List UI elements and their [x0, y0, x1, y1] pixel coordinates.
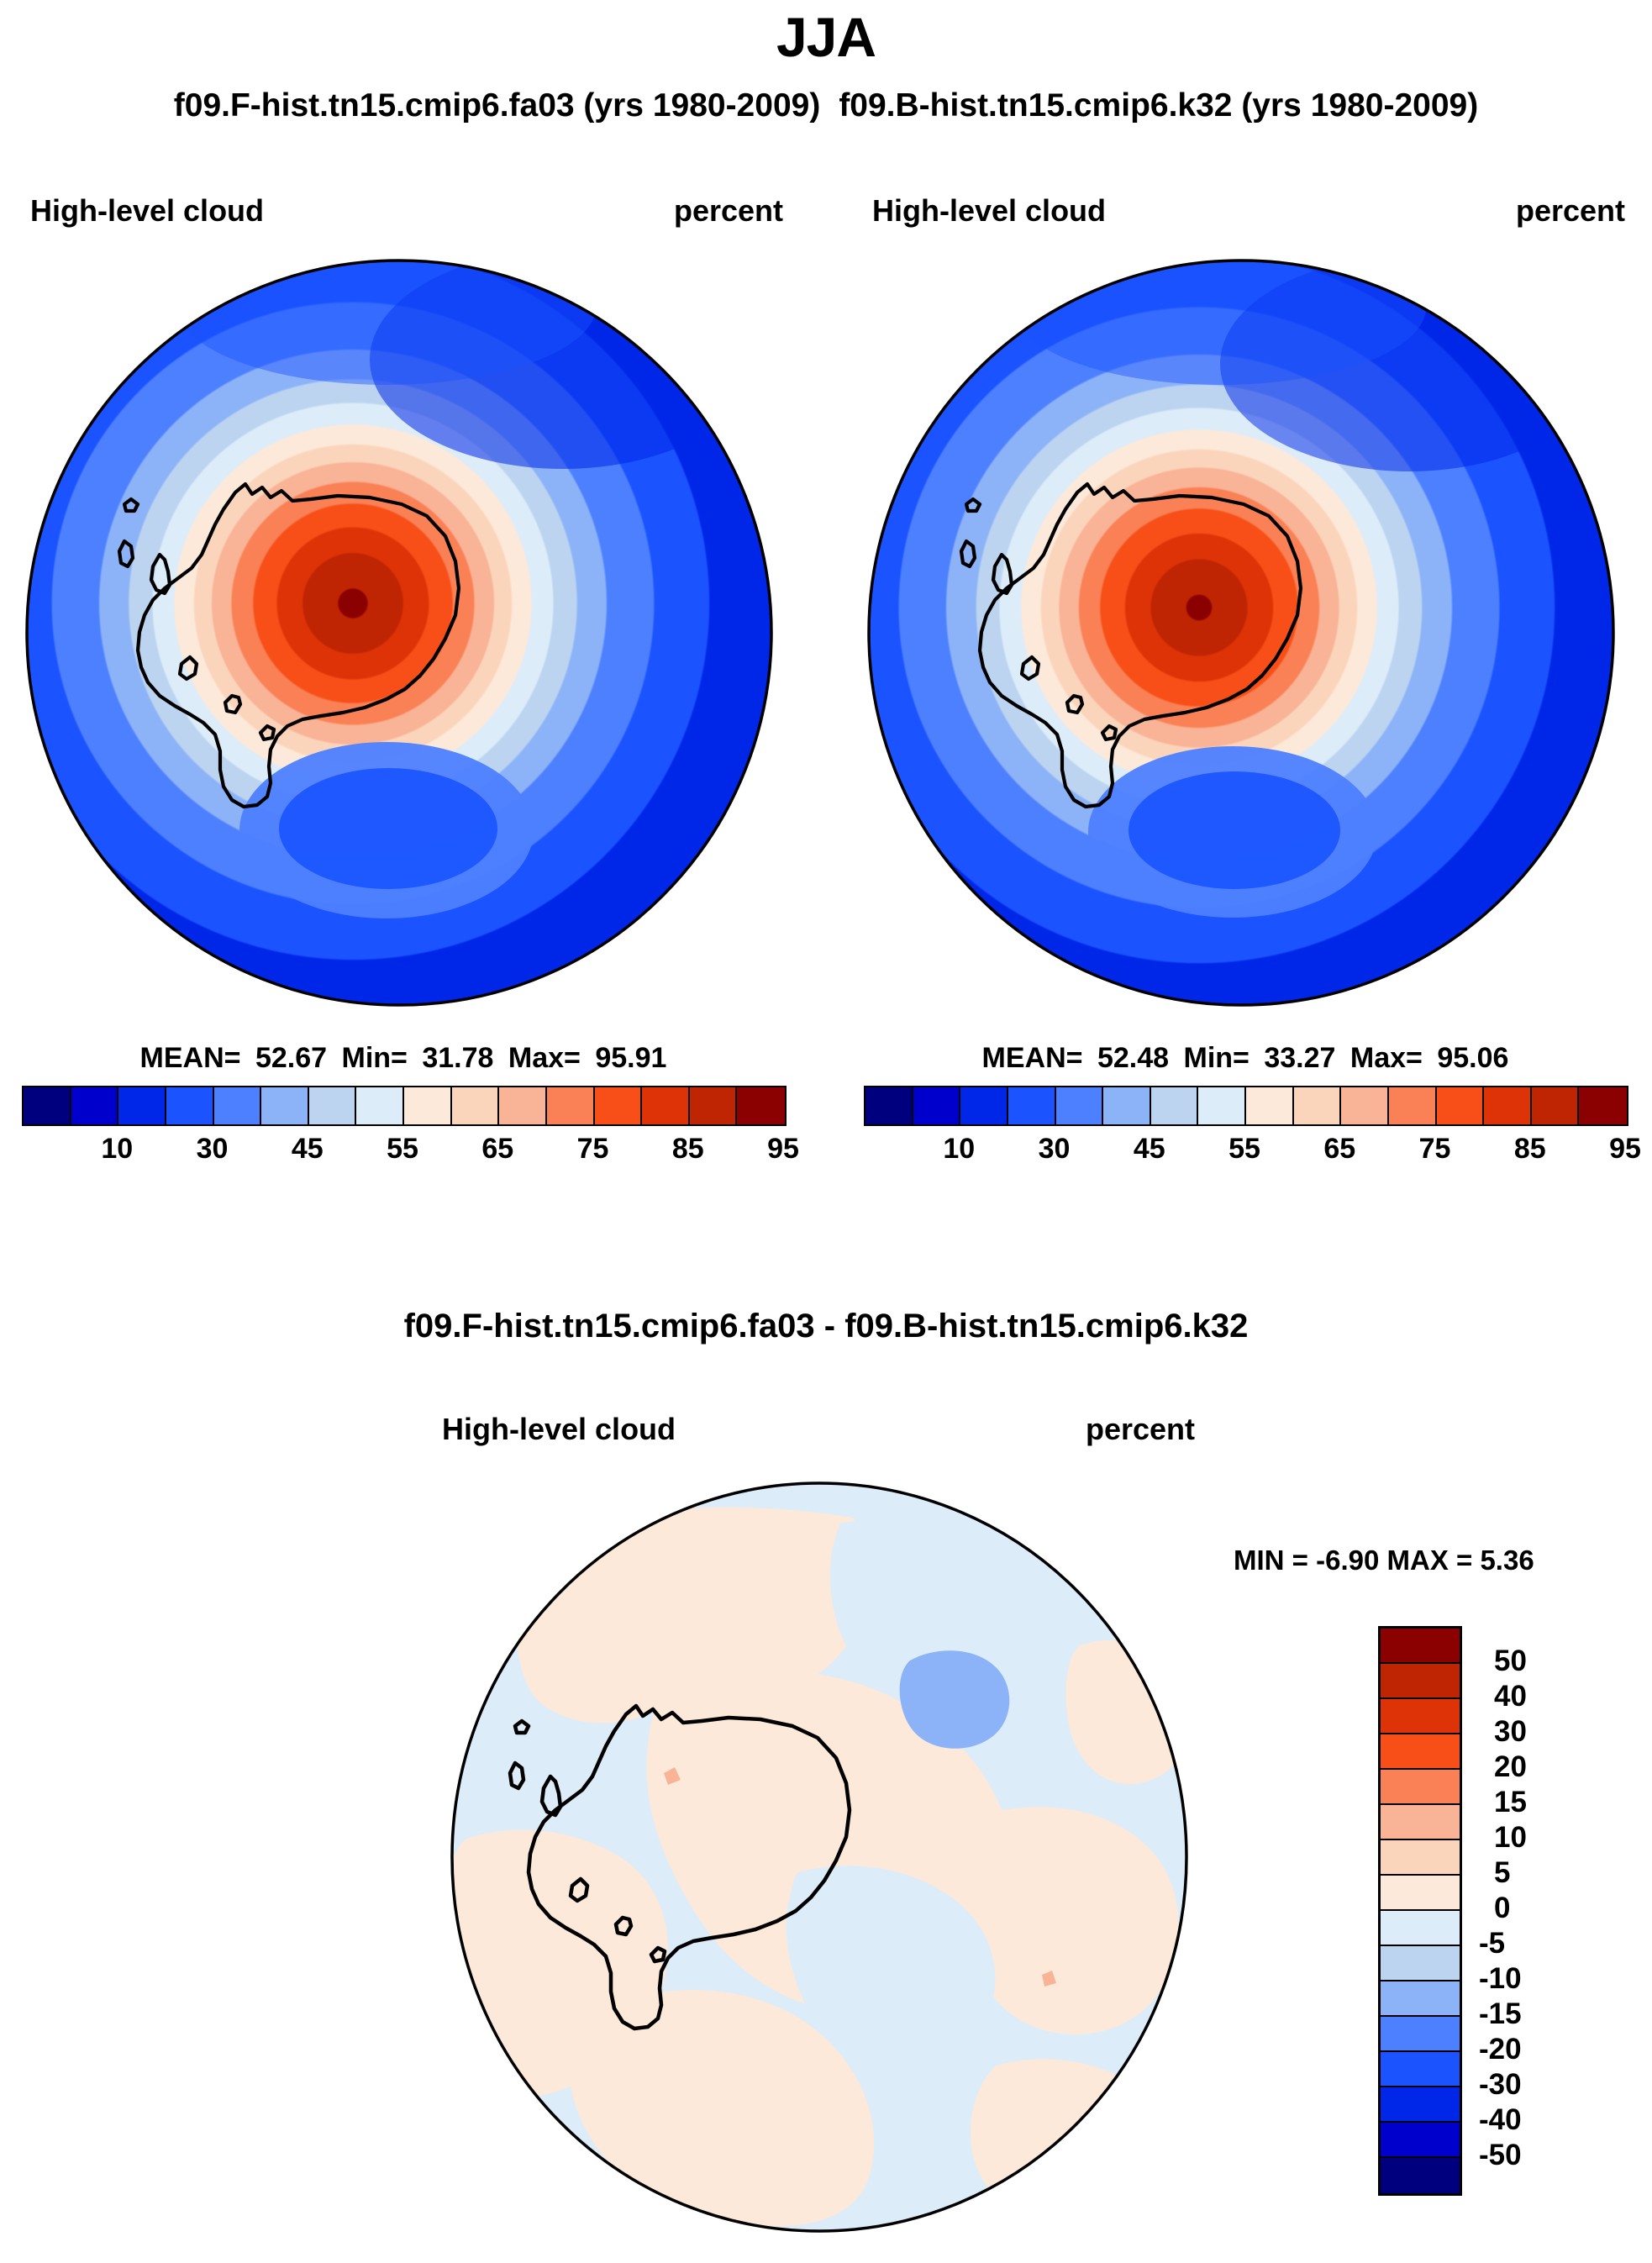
- colorbar-segment-7: [1198, 1087, 1246, 1124]
- panel-left-variable-label: High-level cloud: [8, 193, 264, 229]
- colorbar-tick-65: 65: [1323, 1133, 1355, 1166]
- colorbar-segment-6: [1151, 1087, 1199, 1124]
- colorbar-tick-45: 45: [1134, 1133, 1165, 1166]
- diff-colorbar-segment-2: [1381, 1699, 1460, 1734]
- diff-colorbar-tick-neg30: -30: [1479, 2068, 1522, 2102]
- panel-difference-variable-label: High-level cloud: [420, 1412, 676, 1447]
- diff-colorbar-tick-15: 15: [1494, 1786, 1527, 1819]
- colorbar-segment-0: [24, 1087, 71, 1124]
- colorbar-segment-2: [118, 1087, 166, 1124]
- panel-left-field: [25, 259, 773, 1007]
- colorbar-segment-4: [1056, 1087, 1104, 1124]
- colorbar-segment-10: [1341, 1087, 1389, 1124]
- difference-colorbar: [1378, 1626, 1462, 2196]
- colorbar-tick-65: 65: [481, 1133, 513, 1166]
- colorbar-tick-45: 45: [292, 1133, 324, 1166]
- colorbar-segment-15: [737, 1087, 785, 1124]
- model-name-row: f09.F-hist.tn15.cmip6.fa03 (yrs 1980-200…: [0, 87, 1652, 124]
- diff-colorbar-tick-50: 50: [1494, 1645, 1527, 1678]
- colorbar-segment-6: [309, 1087, 357, 1124]
- panel-right-mean-value: 52.48: [1097, 1042, 1169, 1074]
- difference-colorbar-labels: 50403020151050-5-10-15-20-30-40-50: [1479, 1626, 1639, 2191]
- diff-colorbar-segment-8: [1381, 1911, 1460, 1946]
- panel-left-mean-value: 52.67: [255, 1042, 327, 1074]
- panel-right-globe-svg: [867, 259, 1615, 1007]
- colorbar-segment-9: [1294, 1087, 1342, 1124]
- diff-colorbar-segment-1: [1381, 1664, 1460, 1699]
- model-name-right: f09.B-hist.tn15.cmip6.k32 (yrs 1980-2009…: [839, 87, 1478, 124]
- diff-colorbar-tick-40: 40: [1494, 1680, 1527, 1713]
- colorbar-segment-8: [1246, 1087, 1294, 1124]
- panel-left-colorbar: [22, 1086, 787, 1126]
- colorbar-tick-30: 30: [1039, 1133, 1071, 1166]
- panel-right-header: High-level cloud percent: [850, 193, 1640, 229]
- colorbar-segment-5: [1103, 1087, 1151, 1124]
- panel-right-colorbar: [864, 1086, 1628, 1126]
- diff-colorbar-tick-neg40: -40: [1479, 2103, 1522, 2137]
- panel-left-min-label: Min=: [342, 1042, 408, 1074]
- colorbar-tick-85: 85: [672, 1133, 704, 1166]
- diff-colorbar-segment-14: [1381, 2123, 1460, 2158]
- diff-colorbar-segment-12: [1381, 2052, 1460, 2087]
- panel-difference-header: High-level cloud percent: [420, 1412, 1210, 1447]
- panel-left-min-value: 31.78: [422, 1042, 493, 1074]
- diff-colorbar-segment-3: [1381, 1734, 1460, 1770]
- panel-left-units-label: percent: [674, 193, 798, 229]
- colorbar-tick-10: 10: [943, 1133, 975, 1166]
- colorbar-segment-14: [690, 1087, 738, 1124]
- colorbar-segment-9: [452, 1087, 500, 1124]
- colorbar-segment-7: [356, 1087, 404, 1124]
- colorbar-tick-95: 95: [1609, 1133, 1641, 1166]
- difference-min-label: MIN =: [1234, 1545, 1308, 1576]
- colorbar-tick-95: 95: [767, 1133, 799, 1166]
- colorbar-segment-5: [261, 1087, 309, 1124]
- diff-colorbar-segment-5: [1381, 1805, 1460, 1840]
- model-name-left: f09.F-hist.tn15.cmip6.fa03 (yrs 1980-200…: [174, 87, 821, 124]
- figure-title: JJA: [0, 5, 1652, 69]
- colorbar-segment-0: [865, 1087, 913, 1124]
- panel-difference-map: [416, 1477, 1223, 2234]
- panel-difference-field: [416, 1477, 1223, 2234]
- colorbar-segment-8: [404, 1087, 452, 1124]
- colorbar-segment-4: [214, 1087, 262, 1124]
- diff-colorbar-segment-10: [1381, 1981, 1460, 2017]
- diff-colorbar-tick-neg15: -15: [1479, 1997, 1522, 2031]
- colorbar-segment-13: [1484, 1087, 1532, 1124]
- panel-left-globe-svg: [25, 259, 773, 1007]
- colorbar-segment-14: [1532, 1087, 1580, 1124]
- colorbar-segment-1: [913, 1087, 961, 1124]
- panel-right-max-value: 95.06: [1437, 1042, 1508, 1074]
- diff-colorbar-tick-neg5: -5: [1479, 1927, 1505, 1960]
- diff-colorbar-tick-neg20: -20: [1479, 2033, 1522, 2066]
- figure-page: JJA f09.F-hist.tn15.cmip6.fa03 (yrs 1980…: [0, 0, 1652, 2263]
- colorbar-segment-12: [595, 1087, 643, 1124]
- colorbar-segment-10: [499, 1087, 547, 1124]
- colorbar-segment-15: [1579, 1087, 1627, 1124]
- diff-colorbar-tick-neg50: -50: [1479, 2139, 1522, 2172]
- panel-right-min-value: 33.27: [1264, 1042, 1335, 1074]
- panel-difference-globe-svg: [416, 1477, 1223, 2234]
- difference-max-label: MAX =: [1387, 1545, 1473, 1576]
- diff-colorbar-tick-5: 5: [1494, 1856, 1510, 1890]
- panel-left-stats: MEAN= 52.67 Min= 31.78 Max= 95.91: [8, 1042, 798, 1075]
- diff-colorbar-tick-20: 20: [1494, 1750, 1527, 1784]
- panel-right-min-label: Min=: [1184, 1042, 1250, 1074]
- colorbar-segment-13: [642, 1087, 690, 1124]
- colorbar-tick-55: 55: [1228, 1133, 1260, 1166]
- panel-right: High-level cloud percent: [850, 193, 1640, 1168]
- colorbar-segment-1: [71, 1087, 119, 1124]
- diff-colorbar-tick-10: 10: [1494, 1821, 1527, 1855]
- diff-colorbar-tick-30: 30: [1494, 1715, 1527, 1749]
- colorbar-segment-11: [1389, 1087, 1437, 1124]
- panel-left-colorbar-labels: 1030455565758595: [22, 1133, 783, 1170]
- colorbar-segment-12: [1437, 1087, 1485, 1124]
- panel-right-colorbar-labels: 1030455565758595: [864, 1133, 1625, 1170]
- colorbar-tick-10: 10: [101, 1133, 133, 1166]
- diff-colorbar-segment-11: [1381, 2017, 1460, 2052]
- panel-right-variable-label: High-level cloud: [850, 193, 1106, 229]
- diff-colorbar-tick-neg10: -10: [1479, 1962, 1522, 1996]
- panel-right-units-label: percent: [1516, 193, 1640, 229]
- colorbar-tick-75: 75: [577, 1133, 609, 1166]
- colorbar-segment-2: [960, 1087, 1008, 1124]
- diff-colorbar-segment-6: [1381, 1840, 1460, 1876]
- difference-max-value: 5.36: [1480, 1545, 1534, 1576]
- colorbar-tick-85: 85: [1514, 1133, 1546, 1166]
- difference-title: f09.F-hist.tn15.cmip6.fa03 - f09.B-hist.…: [0, 1308, 1652, 1345]
- panel-difference-units-label: percent: [1086, 1412, 1210, 1447]
- colorbar-segment-3: [166, 1087, 214, 1124]
- diff-colorbar-segment-4: [1381, 1770, 1460, 1805]
- difference-min-value: -6.90: [1316, 1545, 1379, 1576]
- panel-left-mean-label: MEAN=: [140, 1042, 241, 1074]
- colorbar-segment-3: [1008, 1087, 1056, 1124]
- panel-left-max-value: 95.91: [595, 1042, 666, 1074]
- diff-colorbar-segment-9: [1381, 1946, 1460, 1981]
- panel-right-map: [867, 259, 1615, 1007]
- panel-right-stats: MEAN= 52.48 Min= 33.27 Max= 95.06: [850, 1042, 1640, 1075]
- panel-left-header: High-level cloud percent: [8, 193, 798, 229]
- panel-right-max-label: Max=: [1350, 1042, 1423, 1074]
- colorbar-segment-11: [547, 1087, 595, 1124]
- diff-colorbar-tick-0: 0: [1494, 1892, 1510, 1925]
- diff-colorbar-segment-0: [1381, 1629, 1460, 1664]
- diff-colorbar-segment-15: [1381, 2158, 1460, 2193]
- colorbar-tick-75: 75: [1419, 1133, 1451, 1166]
- diff-colorbar-segment-7: [1381, 1876, 1460, 1911]
- panel-right-mean-label: MEAN=: [982, 1042, 1083, 1074]
- panel-left-map: [25, 259, 773, 1007]
- panel-left: High-level cloud percent: [8, 193, 798, 1168]
- panel-right-field: [867, 259, 1615, 1007]
- colorbar-tick-30: 30: [197, 1133, 229, 1166]
- panel-left-max-label: Max=: [508, 1042, 581, 1074]
- diff-colorbar-segment-13: [1381, 2087, 1460, 2123]
- colorbar-tick-55: 55: [387, 1133, 418, 1166]
- difference-minmax: MIN = -6.90 MAX = 5.36: [1234, 1545, 1534, 1576]
